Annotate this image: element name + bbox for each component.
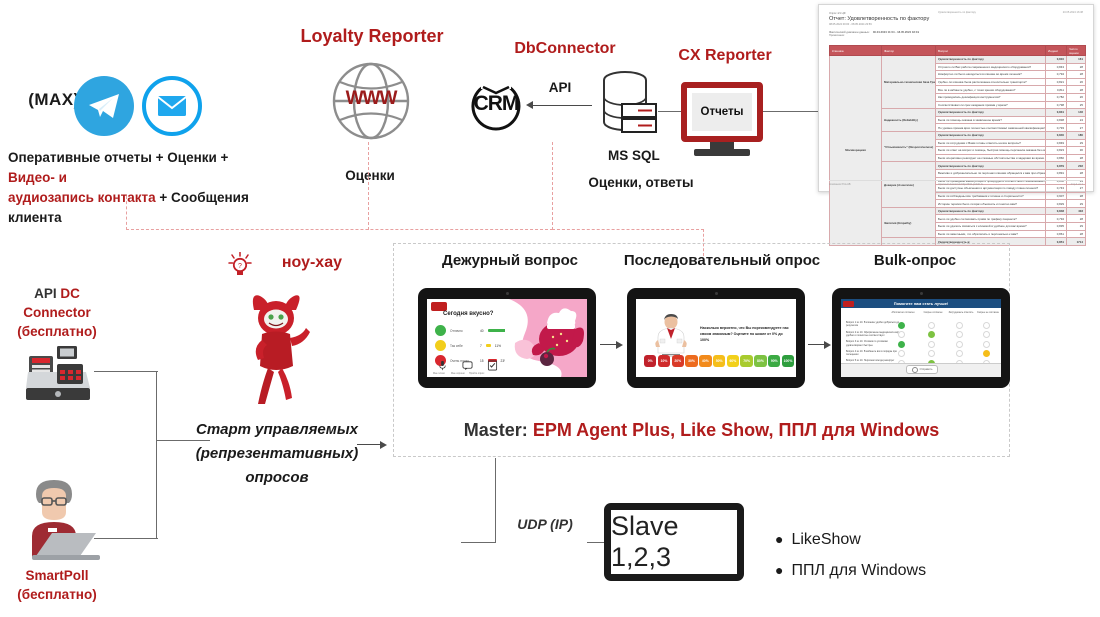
report-cell: 0,840	[1046, 131, 1067, 139]
report-cell: 25	[1067, 101, 1086, 109]
red-dash-main-horizontal	[126, 229, 553, 230]
report-document: Удовлетворенность по фактору 20.05.2024 …	[818, 4, 1094, 192]
report-cell: 29	[1067, 200, 1086, 208]
report-filter-label: Примечание:	[829, 34, 1083, 37]
rating-button[interactable]: 10%	[658, 355, 670, 367]
monitor-screen-label: Отчеты	[692, 93, 752, 131]
to-master-arrow-head	[380, 441, 387, 449]
red-dash-drop-left	[126, 196, 127, 230]
tablet2-camera-icon	[715, 292, 718, 295]
master-prefix: Master:	[464, 420, 533, 440]
report-cell: Удовлетворенность по фактору	[936, 162, 1046, 170]
report-cell: 0,860	[1046, 154, 1067, 162]
smartpoll-free: (бесплатно)	[17, 587, 96, 602]
rating-button[interactable]: 20%	[672, 355, 684, 367]
tablet1-action-icons	[437, 360, 498, 371]
ocenki-otvety-label: Оценки, ответы	[566, 175, 716, 190]
report-cell: 27	[1067, 124, 1086, 132]
report-cell: 24	[1067, 116, 1086, 124]
report-factor-cell: Надежность (Reliability)	[882, 109, 936, 132]
report-cell: 0,794	[1046, 71, 1067, 79]
caption-line-2: (репрезентативных)	[196, 445, 358, 462]
master-to-slave-vertical	[495, 458, 496, 543]
left-bracket-vertical	[156, 371, 157, 539]
to-master-arrow-line	[357, 444, 381, 445]
report-cell: 0,848	[1046, 207, 1067, 215]
tablet3-logo-icon	[843, 301, 854, 307]
mssql-label: MS SQL	[608, 148, 688, 163]
report-cell: 28	[1067, 86, 1086, 94]
crm-label: CRM	[465, 92, 527, 116]
report-cell: 403	[1067, 207, 1086, 215]
report-cell: Были ли сотрудники с Вами готовы ответит…	[936, 139, 1046, 147]
monitor-base	[694, 149, 750, 156]
report-cell: 0,821	[1046, 78, 1067, 86]
report-cell: Удовлетворенность по фактору	[936, 207, 1046, 215]
smartpoll-title: SmartPoll (бесплатно)	[2, 566, 112, 604]
report-cell: Была ли помощь оказана в заявленное врем…	[936, 116, 1046, 124]
report-cell: Комфортно ли было находиться в клинике в…	[936, 71, 1046, 79]
red-dash-drop-db	[552, 142, 553, 230]
bullet-label: LikeShow	[791, 525, 860, 555]
ocenki-label-loyalty: Оценки	[320, 168, 420, 183]
bulk-answer-dot[interactable]	[983, 341, 990, 348]
tablet2-rating-scale: 0%10%20%30%40%50%60%70%80%90%100%	[644, 355, 794, 367]
cash-register-icon	[24, 346, 94, 402]
report-cell: 202	[1067, 162, 1086, 170]
report-cell: 26	[1067, 93, 1086, 101]
report-cell: 0,794	[1046, 215, 1067, 223]
report-cell: 28	[1067, 192, 1086, 200]
bulk-answer-dot[interactable]	[956, 322, 963, 329]
report-cell: 0,849	[1046, 139, 1067, 147]
tablet3-camera-icon	[920, 292, 923, 295]
lightbulb-icon: ?	[228, 252, 252, 278]
smiley-icon[interactable]	[435, 325, 446, 336]
report-cell: Были ли соблюдены все требования к гигие…	[936, 192, 1046, 200]
report-cell: Были ли удалось связаться с клиникой в у…	[936, 223, 1046, 231]
report-cell: 0,798	[1046, 101, 1067, 109]
tab-title-duty-question: Дежурный вопрос	[415, 252, 605, 269]
api-prefix: API	[34, 286, 60, 301]
tablet1-screen[interactable]: Сегодня вкусно? Отлично4065%Так себе711%…	[427, 299, 587, 377]
report-footer-left: Компания ProLAB	[829, 183, 851, 186]
globe-www-label: WWW	[332, 88, 410, 110]
bulk-answer-dot[interactable]	[928, 350, 935, 357]
globe-icon: WWW	[332, 62, 410, 140]
report-cell: Удобно ли клиника была расположена относ…	[936, 78, 1046, 86]
report-cell: 0,907	[1046, 192, 1067, 200]
report-cell: 26	[1067, 78, 1086, 86]
master-footer-line: Master: EPM Agent Plus, Like Show, ППЛ д…	[398, 420, 1005, 441]
option-percent: 11%	[495, 344, 501, 348]
tablet2-to-3-arrow-head	[824, 341, 831, 349]
rating-button[interactable]: 80%	[754, 355, 766, 367]
report-cell: Как проводилась дезинфекция инструментов…	[936, 93, 1046, 101]
loyalty-reporter-title: Loyalty Reporter	[292, 26, 452, 47]
cashreg-branch-line	[94, 371, 158, 372]
report-cell: 29	[1067, 223, 1086, 231]
option-label: Так себе	[450, 344, 476, 348]
bulk-answer-dot[interactable]	[956, 341, 963, 348]
slave-left-line-a	[461, 542, 496, 543]
report-cell: 0,879	[1046, 162, 1067, 170]
rating-button[interactable]: 70%	[740, 355, 752, 367]
tablet1-option-row[interactable]: Так себе711%	[435, 340, 501, 351]
api-free-word: (бесплатно)	[17, 324, 96, 339]
tablet2-screen[interactable]: Насколько вероятно, что Вы порекомендует…	[636, 299, 796, 377]
tablet1-camera-icon	[506, 292, 509, 295]
tablet-sequential-survey[interactable]: Насколько вероятно, что Вы порекомендует…	[627, 288, 805, 388]
api-label: API	[538, 80, 582, 95]
bullet-label: ППЛ для Windows	[791, 556, 926, 586]
mic-icon-label: Мне плохо	[433, 372, 445, 375]
table-row: МоскворецкаяМатериально-техническая база…	[830, 56, 1086, 64]
tab-title-sequential-survey: Последовательный опрос	[612, 252, 832, 269]
person-branch-line	[94, 538, 158, 539]
report-table: КлиникаФакторВопросИндексЧисло оценок Мо…	[829, 45, 1086, 246]
bulk-question-label: Вопрос 2 из 10. Оформление медицинских к…	[846, 331, 900, 338]
red-dash-drop-globe	[368, 142, 369, 230]
api-dc-connector-title: API DC Connector (бесплатно)	[2, 284, 112, 341]
caption-line-1: Старт управляемых	[196, 421, 358, 438]
tablet2-question: Насколько вероятно, что Вы порекомендует…	[700, 325, 790, 343]
tablet3-send-label: Отправить	[920, 368, 933, 371]
tablet2-to-3-arrow-line	[808, 344, 825, 345]
report-cell: Устроило ли Вас работа современного меди…	[936, 63, 1046, 71]
report-cell: 28	[1067, 215, 1086, 223]
tablet1-logo-icon	[431, 302, 447, 311]
report-cell: 0,835	[1046, 223, 1067, 231]
top-left-caption: Оперативные отчеты + Оценки + Видео- и а…	[8, 148, 268, 228]
tab-title-bulk-survey: Bulk-опрос	[845, 252, 985, 269]
api-arrow-line	[532, 105, 592, 106]
start-surveys-caption: Старт управляемых (репрезентативных) опр…	[178, 418, 376, 490]
database-icon	[598, 70, 658, 138]
report-cell: Были оперативно реагируют на сложные обс…	[936, 154, 1046, 162]
report-col-header: Индекс	[1046, 46, 1067, 56]
report-factor-cell: Материально-техническая база Графика	[882, 56, 936, 109]
report-cell: 28	[1067, 230, 1086, 238]
rating-button[interactable]: 60%	[727, 355, 739, 367]
mic-icon[interactable]	[437, 360, 448, 371]
tablet3-send-button[interactable]: Отправить	[906, 365, 938, 374]
bulk-answer-dot[interactable]	[928, 341, 935, 348]
bullet-dot: ●	[775, 524, 783, 554]
report-cell: Было ли удобно согласовать приём по граф…	[936, 215, 1046, 223]
db-to-monitor-line	[658, 111, 683, 112]
bulk-answer-dot[interactable]	[898, 322, 905, 329]
report-cell: Удовлетворенность по фактору	[936, 131, 1046, 139]
report-cell: 0,823	[1046, 147, 1067, 155]
report-col-header: Фактор	[882, 46, 936, 56]
caption-part-3: аудиозапись контакта	[8, 190, 156, 205]
rating-button[interactable]: 100%	[782, 355, 794, 367]
slave-products-list: ●LikeShow ●ППЛ для Windows	[775, 524, 1035, 586]
report-cell: 161	[1067, 56, 1086, 64]
tablet1-to-2-arrow-head	[616, 341, 623, 349]
svg-text:?: ?	[238, 263, 242, 270]
report-cell: 0,843	[1046, 63, 1067, 71]
bulk-column-header: Затрудняюсь ответить	[948, 311, 974, 314]
bulk-column-header: Абсолютно согласен	[890, 311, 916, 314]
bulk-answer-dot[interactable]	[928, 322, 935, 329]
connector-word: Connector	[23, 305, 91, 320]
report-title: Отчет: Удовлетворенность по фактору	[829, 16, 1083, 22]
send-icon	[912, 367, 918, 373]
bulk-answer-dot[interactable]	[928, 331, 935, 338]
rating-button[interactable]: 50%	[713, 355, 725, 367]
bulk-column-header: Скорее не согласен	[975, 311, 1001, 314]
doctor-photo-icon	[652, 313, 690, 357]
report-cell: Вежливо и доброжелательно ли персонал кл…	[936, 169, 1046, 177]
tablet3-screen[interactable]: Помогите нам стать лучше! Абсолютно согл…	[841, 299, 1001, 377]
bulk-answer-dot[interactable]	[898, 331, 905, 338]
bulk-column-header: Скорее согласен	[920, 311, 946, 314]
report-cell: Все ли в кабинете удобно, с точки зрения…	[936, 86, 1046, 94]
report-col-header: Вопрос	[936, 46, 1046, 56]
report-cell: 0,891	[1046, 169, 1067, 177]
report-cell: 0,851	[1046, 238, 1067, 246]
report-cell: 0,811	[1046, 86, 1067, 94]
report-factor-cell: Эмпатия (Empathy)	[882, 207, 936, 237]
bulk-answer-dot[interactable]	[983, 331, 990, 338]
bulk-answer-dot[interactable]	[898, 350, 905, 357]
rating-button[interactable]: 40%	[699, 355, 711, 367]
report-cell: Историю терапии было ли врач объяснить и…	[936, 200, 1046, 208]
option-value: 40	[480, 329, 484, 333]
report-cell: Удовлетворенность по фактору	[936, 56, 1046, 64]
rating-button[interactable]: 90%	[768, 355, 780, 367]
smiley-icon[interactable]	[435, 340, 446, 351]
rating-button[interactable]: 0%	[644, 355, 656, 367]
caption-part-1: Оперативные отчеты + Оценки +	[8, 150, 228, 165]
api-arrow-head	[526, 101, 533, 109]
report-range-value: 30.04.2024 11:04 - 18.05.2024 18:19	[873, 30, 919, 34]
bulk-answer-dot[interactable]	[956, 331, 963, 338]
report-cell: 30	[1067, 147, 1086, 155]
report-factor-cell: "Отзывчивость" (Responsiveness)	[882, 131, 936, 161]
report-cell: 29	[1067, 139, 1086, 147]
tablet3-header-text: Помогите нам стать лучше!	[894, 301, 949, 306]
bulk-answer-dot[interactable]	[956, 350, 963, 357]
strawberry-chef-illustration	[505, 299, 587, 377]
option-value: 7	[480, 344, 482, 348]
report-footer-center: Красный Аналитик http://911-prolab.ru	[938, 183, 983, 186]
master-products: EPM Agent Plus, Like Show, ППЛ для Windo…	[533, 420, 939, 440]
report-cell: Были ли ответ на вопрос и помощь, быстра…	[936, 147, 1046, 155]
monitor-to-report-line	[763, 111, 819, 112]
report-cell: 146	[1067, 109, 1086, 117]
tablet1-to-2-arrow-line	[600, 344, 617, 345]
report-meta: Опрос 4/1 ЦФ	[829, 12, 1083, 15]
comment-icon-label: Мне хорошо	[451, 372, 465, 375]
survey-icon[interactable]	[487, 360, 498, 371]
report-cell: 0,782	[1046, 93, 1067, 101]
report-cell: Удовлетворенность по фактору	[936, 109, 1046, 117]
bulk-answer-dot[interactable]	[983, 350, 990, 357]
report-group-cell: Москворецкая	[830, 56, 882, 246]
report-footer-right: Стр.1 из 1	[1071, 183, 1083, 186]
tablet-bulk-survey[interactable]: Помогите нам стать лучше! Абсолютно согл…	[832, 288, 1010, 388]
bulk-question-label: Вопрос 4 из 10. В кабинете всё в порядке…	[846, 350, 900, 357]
report-cell: 0,810	[1046, 56, 1067, 64]
bulk-question-label: Вопрос 1 из 10. В клинике удобно добрать…	[846, 321, 900, 328]
report-cell: 28	[1067, 154, 1086, 162]
report-cell: 0,861	[1046, 230, 1067, 238]
bullet-dot: ●	[775, 555, 783, 585]
report-cell: По уровню приема врач полностью соответс…	[936, 124, 1046, 132]
report-cell: Соответствовал ли срок ожидания приёма у…	[936, 101, 1046, 109]
operator-with-laptop-icon	[12, 478, 102, 560]
option-label: Отлично	[450, 329, 476, 333]
caption-line-3: опросов	[245, 469, 308, 486]
report-cell: 180	[1067, 131, 1086, 139]
cx-monitor-icon: Отчеты	[681, 82, 763, 142]
list-item: ●LikeShow	[775, 524, 1035, 555]
report-table-header-row: КлиникаФакторВопросИндексЧисло оценок	[830, 46, 1086, 56]
tablet3-header-bar: Помогите нам стать лучше!	[841, 299, 1001, 308]
survey-icon-label: Пройти опрос	[469, 372, 484, 375]
bulk-answer-dot[interactable]	[983, 322, 990, 329]
report-cell: Были ли заметными, что обратились и перс…	[936, 230, 1046, 238]
dbconnector-title: DbConnector	[490, 40, 640, 58]
telegram-icon	[74, 76, 134, 136]
rating-button[interactable]: 30%	[685, 355, 697, 367]
list-item: ●ППЛ для Windows	[775, 555, 1035, 586]
report-cell: 0,793	[1046, 124, 1067, 132]
bulk-answer-dot[interactable]	[898, 341, 905, 348]
caption-part-2: Видео- и	[8, 170, 67, 185]
report-cell: 28	[1067, 169, 1086, 177]
report-cell: 0,829	[1046, 200, 1067, 208]
tablet-duty-question[interactable]: Сегодня вкусно? Отлично4065%Так себе711%…	[418, 288, 596, 388]
dc-word: DC	[60, 286, 80, 301]
slave-box: Slave 1,2,3	[604, 503, 744, 581]
report-cell: 28	[1067, 71, 1086, 79]
red-mascot-icon	[238, 288, 314, 406]
report-cell: 28	[1067, 63, 1086, 71]
smartpoll-name: SmartPoll	[25, 568, 88, 583]
crm-icon: CRM	[465, 80, 527, 132]
bulk-question-label: Вопрос 3 из 10. Условия по условиям удов…	[846, 340, 900, 347]
red-dash-right-horizontal	[552, 229, 704, 230]
report-subtitle: 08.05.2024 00:00 - 08.05.2024 23:59	[829, 23, 1083, 26]
report-cell: 0,831	[1046, 109, 1067, 117]
udp-ip-label: UDP (IP)	[506, 516, 584, 532]
mail-icon	[142, 76, 202, 136]
report-col-header: Клиника	[830, 46, 882, 56]
report-cell: 1714	[1067, 238, 1086, 246]
cx-reporter-title: CX Reporter	[665, 47, 785, 65]
tablet1-question: Сегодня вкусно?	[443, 311, 493, 317]
option-bar	[486, 344, 491, 347]
comment-icon[interactable]	[462, 360, 473, 371]
report-cell: 0,838	[1046, 116, 1067, 124]
report-col-header: Число оценок	[1067, 46, 1086, 56]
